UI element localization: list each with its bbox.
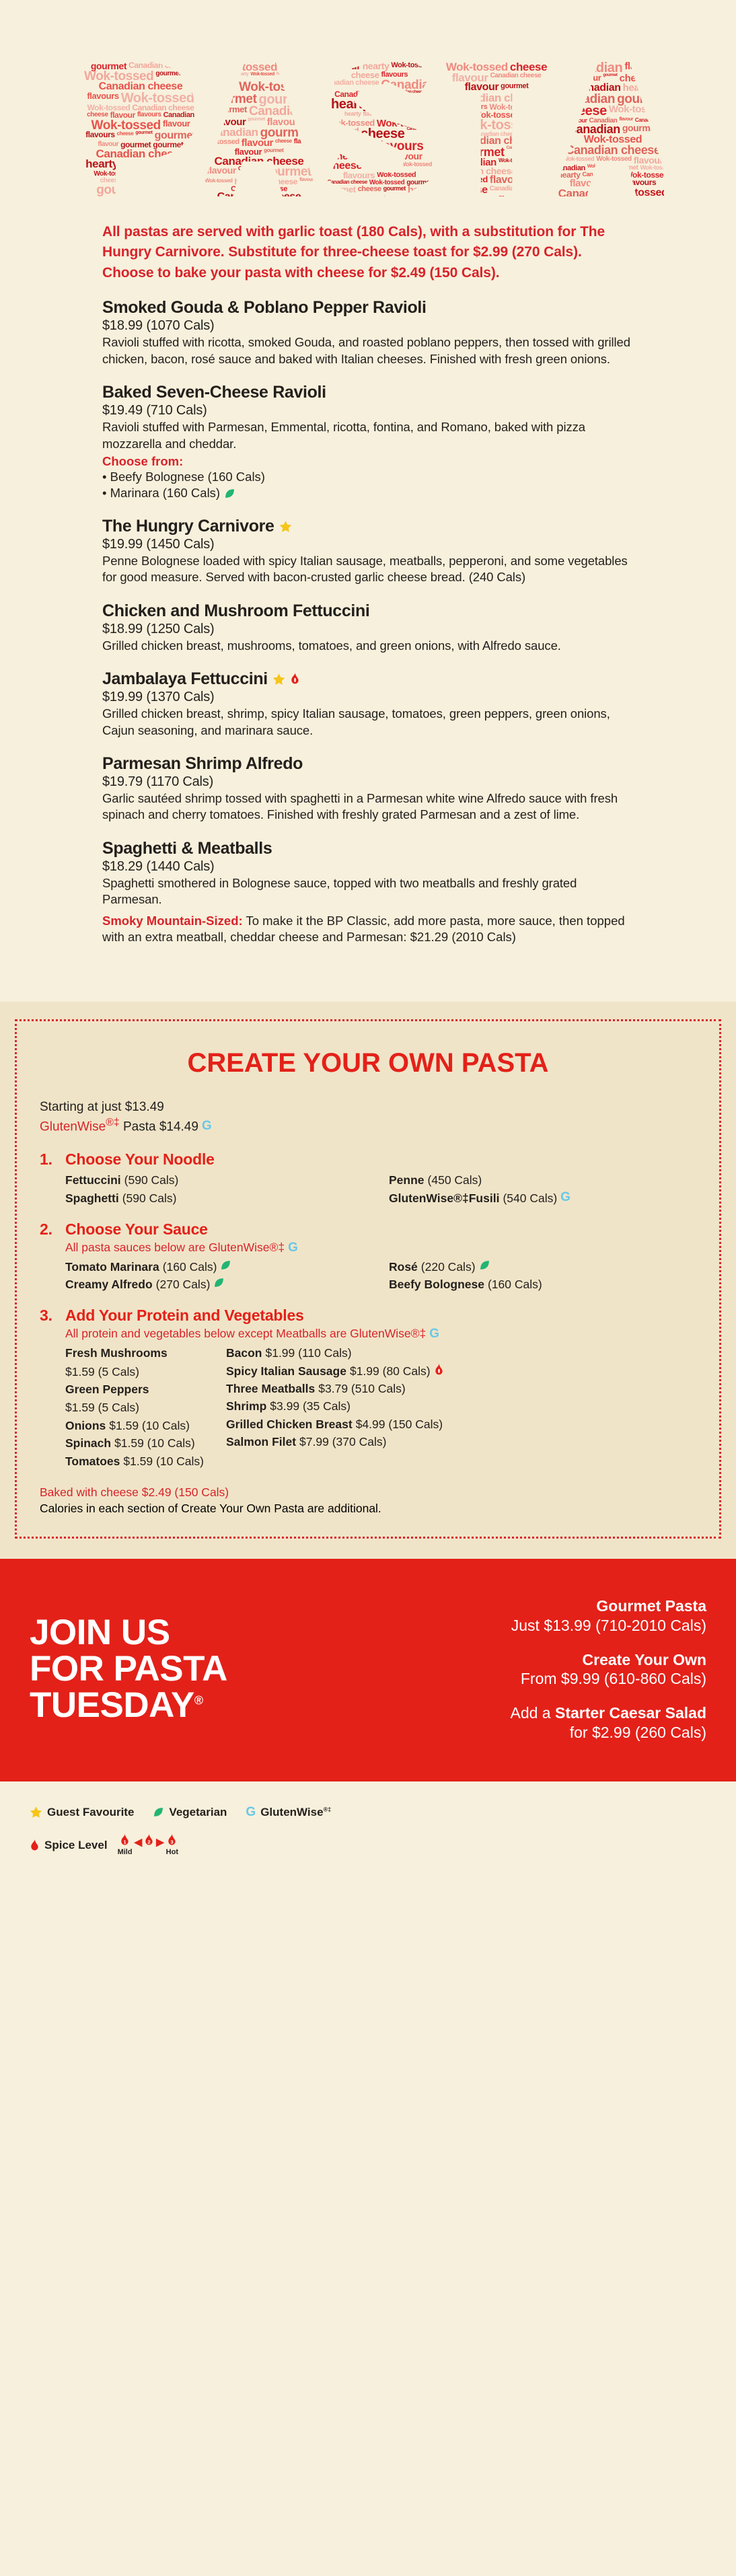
cyo-option-detail: (590 Cals) [122, 1191, 177, 1206]
cyo-option-name: Spaghetti [65, 1191, 119, 1206]
menu-item: Jambalaya Fettuccini$19.99 (1370 Cals)Gr… [102, 669, 634, 739]
cyo-option-detail: $1.99 (80 Cals) [350, 1364, 431, 1378]
menu-item-price: $19.99 (1370 Cals) [102, 690, 634, 705]
cyo-option-detail: $3.79 (510 Cals) [318, 1381, 405, 1396]
menu-item: Smoked Gouda & Poblano Pepper Ravioli$18… [102, 298, 634, 367]
menu-item-name: Chicken and Mushroom Fettuccini [102, 601, 634, 621]
banner-offer: Add a Starter Caesar Saladfor $2.99 (260… [510, 1703, 706, 1742]
menu-item-description: Grilled chicken breast, shrimp, spicy It… [102, 706, 634, 739]
cyo-option-detail: (220 Cals) [421, 1259, 476, 1274]
cyo-option-grid: Fresh Mushrooms$1.59 (5 Cals)Green Peppe… [65, 1346, 696, 1471]
vegetarian-leaf-icon [479, 1259, 490, 1271]
menu-item: Chicken and Mushroom Fettuccini$18.99 (1… [102, 601, 634, 654]
menu-item-description: Ravioli stuffed with ricotta, smoked Gou… [102, 334, 634, 367]
menu-item-name: Spaghetti & Meatballs [102, 839, 634, 858]
cyo-step-number: 3. [40, 1307, 56, 1325]
cyo-step-title: Choose Your Sauce [65, 1220, 208, 1239]
banner-offer-title: Gourmet Pasta [510, 1596, 706, 1616]
vegetarian-leaf-icon [213, 1277, 225, 1288]
wordcloud-letter: gourmetCanadian cheeseWok-tossedgourmetc… [84, 62, 197, 196]
glutenwise-icon: G [429, 1327, 439, 1340]
vegetarian-leaf-icon [153, 1806, 164, 1818]
wordcloud-letter: CanadianflavoursflavourgourmetcheeseCana… [554, 62, 664, 196]
cyo-option-detail: (160 Cals) [163, 1259, 217, 1274]
cyo-step-header: 1.Choose Your Noodle [40, 1150, 696, 1169]
legend-spice-level: Spice Level 1Mild◀2▶3Hot [30, 1834, 178, 1857]
svg-text:2: 2 [147, 1839, 151, 1845]
cyo-option-detail: $1.59 (10 Cals) [123, 1454, 204, 1469]
cyo-option[interactable]: Penne(450 Cals) [389, 1173, 696, 1187]
smoky-mountain-label: Smoky Mountain-Sized: [102, 914, 243, 928]
svg-text:3: 3 [171, 1839, 174, 1845]
menu-item-name: Jambalaya Fettuccini [102, 669, 634, 689]
cyo-option[interactable]: Creamy Alfredo(270 Cals) [65, 1277, 373, 1292]
menu-item-price: $19.79 (1170 Cals) [102, 774, 634, 790]
glutenwise-pasta-price: GlutenWise®‡ Pasta $14.49 G [40, 1115, 696, 1136]
cyo-option-detail: $3.99 (35 Cals) [270, 1399, 351, 1413]
vegetarian-leaf-icon [220, 1259, 231, 1271]
cyo-option-name: Penne [389, 1173, 425, 1187]
pasta-wordcloud-title: gourmetCanadian cheeseWok-tossedgourmetc… [72, 62, 664, 196]
banner-offer: Create Your OwnFrom $9.99 (610-860 Cals) [510, 1650, 706, 1689]
banner-headline: JOIN US FOR PASTA TUESDAY® [30, 1615, 227, 1724]
legend-glutenwise-label: GlutenWise [260, 1806, 323, 1818]
menu-item: Spaghetti & Meatballs$18.29 (1440 Cals)S… [102, 839, 634, 946]
legend-guest-favourite: Guest Favourite [30, 1806, 134, 1819]
guest-favourite-star-icon [279, 520, 292, 533]
menu-item-price: $18.99 (1250 Cals) [102, 622, 634, 637]
menu-item: Parmesan Shrimp Alfredo$19.79 (1170 Cals… [102, 754, 634, 823]
glutenwise-icon: G [288, 1241, 298, 1254]
cyo-option-detail: (540 Cals) [503, 1191, 557, 1206]
menu-item-name: The Hungry Carnivore [102, 517, 634, 536]
cyo-step-title: Add Your Protein and Vegetables [65, 1307, 304, 1325]
guest-favourite-star-icon [30, 1806, 42, 1818]
glutenwise-pasta-price-value: Pasta $14.49 [120, 1119, 198, 1134]
cyo-option-detail: $4.99 (150 Cals) [356, 1417, 443, 1432]
cyo-option-name: Spinach [65, 1436, 111, 1450]
cyo-option[interactable]: Bacon$1.99 (110 Cals) [226, 1346, 696, 1360]
calories-additional-note: Calories in each section of Create Your … [40, 1501, 696, 1517]
cyo-option[interactable]: Onions$1.59 (10 Cals) [65, 1418, 210, 1433]
cyo-option-name: Green Peppers [65, 1382, 149, 1397]
cyo-option-name: GlutenWise®‡Fusili [389, 1191, 499, 1206]
menu-item-price: $18.29 (1440 Cals) [102, 859, 634, 875]
cyo-option[interactable]: Tomato Marinara(160 Cals) [65, 1259, 373, 1274]
legend-row-symbols: Guest Favourite Vegetarian G GlutenWise®… [30, 1806, 706, 1819]
banner-headline-line3: TUESDAY® [30, 1687, 227, 1724]
cyo-option[interactable]: Green Peppers$1.59 (5 Cals) [65, 1382, 210, 1415]
spice-scale-arrow-icon: ▶ [155, 1836, 165, 1857]
legend-spice-level-label: Spice Level [44, 1839, 108, 1852]
cyo-option-name: Creamy Alfredo [65, 1277, 153, 1292]
cyo-step-number: 1. [40, 1150, 56, 1169]
choose-from-label: Choose from: [102, 454, 634, 469]
starting-at-text: Starting at just $13.49 [40, 1099, 696, 1116]
cyo-option-name: Bacon [226, 1346, 262, 1360]
cyo-option[interactable]: Fettuccini(590 Cals) [65, 1173, 373, 1187]
cyo-option-detail: (590 Cals) [124, 1173, 179, 1187]
banner-offer-subtitle: Just $13.99 (710-2010 Cals) [510, 1616, 706, 1635]
cyo-option[interactable]: Grilled Chicken Breast$4.99 (150 Cals) [226, 1417, 696, 1432]
menu-item: Baked Seven-Cheese Ravioli$19.49 (710 Ca… [102, 383, 634, 501]
cyo-option[interactable]: Spaghetti(590 Cals) [65, 1191, 373, 1206]
cyo-option[interactable]: Beefy Bolognese(160 Cals) [389, 1277, 696, 1292]
choose-option: • Beefy Bolognese (160 Cals) [102, 469, 634, 485]
menu-item-name: Parmesan Shrimp Alfredo [102, 754, 634, 774]
wordcloud-letter: flavourheartyWok-tossedcheeseflavoursCan… [322, 62, 437, 196]
cyo-option[interactable]: GlutenWise®‡Fusili(540 Cals)G [389, 1191, 696, 1206]
menu-item-name-text: Chicken and Mushroom Fettuccini [102, 601, 370, 621]
svg-text:1: 1 [123, 1839, 126, 1845]
spice-flame-icon: 2 [144, 1834, 154, 1847]
cyo-step-note-text: All protein and vegetables below except … [65, 1326, 426, 1341]
hero-header: gourmetCanadian cheeseWok-tossedgourmetc… [0, 0, 736, 222]
cyo-option-detail: $1.59 (10 Cals) [114, 1436, 195, 1450]
cyo-option-detail: (160 Cals) [488, 1277, 542, 1292]
menu-item-price: $18.99 (1070 Cals) [102, 318, 634, 334]
spice-flame-icon [30, 1839, 40, 1852]
cyo-step-header: 3.Add Your Protein and Vegetables [40, 1307, 696, 1325]
cyo-option-detail: (270 Cals) [156, 1277, 211, 1292]
spice-level-caption: Mild [118, 1848, 133, 1857]
banner-offer-line1: Add a Starter Caesar Salad [510, 1703, 706, 1723]
banner-offer-subtitle: From $9.99 (610-860 Cals) [510, 1669, 706, 1689]
cyo-option-name: Three Meatballs [226, 1381, 315, 1396]
menu-item-description: Spaghetti smothered in Bolognese sauce, … [102, 875, 634, 908]
vegetarian-leaf-icon [224, 488, 235, 499]
menu-item-name-text: Smoked Gouda & Poblano Pepper Ravioli [102, 298, 427, 318]
create-your-own-footnotes: Baked with cheese $2.49 (150 Cals) Calor… [40, 1485, 696, 1516]
cyo-step-number: 2. [40, 1220, 56, 1239]
glutenwise-icon: G [202, 1119, 212, 1132]
cyo-option-name: Spicy Italian Sausage [226, 1364, 346, 1378]
spice-flame-icon [290, 673, 300, 686]
legend-footer: Guest Favourite Vegetarian G GlutenWise®… [0, 1781, 736, 1892]
banner-offer-bold: Starter Caesar Salad [555, 1704, 706, 1722]
menu-item-description: Penne Bolognese loaded with spicy Italia… [102, 553, 634, 586]
cyo-option[interactable]: Salmon Filet$7.99 (370 Cals) [226, 1434, 696, 1449]
menu-item-name: Baked Seven-Cheese Ravioli [102, 383, 634, 402]
choose-option-label: • Marinara (160 Cals) [102, 485, 220, 501]
cyo-option-grid: Tomato Marinara(160 Cals)Rosé(220 Cals)C… [65, 1259, 696, 1292]
cyo-option[interactable]: Tomatoes$1.59 (10 Cals) [65, 1454, 210, 1469]
banner-offer: Gourmet PastaJust $13.99 (710-2010 Cals) [510, 1596, 706, 1635]
cyo-option-column-right: Bacon$1.99 (110 Cals)Spicy Italian Sausa… [226, 1346, 696, 1471]
menu-item-price: $19.99 (1450 Cals) [102, 537, 634, 552]
menu-item-description: Grilled chicken breast, mushrooms, tomat… [102, 638, 634, 654]
menu-item-price: $19.49 (710 Cals) [102, 403, 634, 418]
spice-flame-icon: 3 [167, 1834, 177, 1847]
menu-item-name-text: Parmesan Shrimp Alfredo [102, 754, 303, 774]
menu-item-name-text: The Hungry Carnivore [102, 517, 274, 536]
choose-option: • Marinara (160 Cals) [102, 485, 634, 501]
banner-registered-mark: ® [194, 1694, 203, 1707]
cyo-option[interactable]: Shrimp$3.99 (35 Cals) [226, 1399, 696, 1413]
spice-level-step: 1Mild [118, 1834, 133, 1857]
legend-glutenwise: G GlutenWise®‡ [246, 1806, 331, 1819]
legend-glutenwise-sup: ®‡ [324, 1806, 332, 1812]
cyo-step-note: All pasta sauces below are GlutenWise®‡G [65, 1240, 696, 1255]
menu-item-description: Ravioli stuffed with Parmesan, Emmental,… [102, 419, 634, 452]
cyo-option-name: Grilled Chicken Breast [226, 1417, 353, 1432]
smoky-mountain-note: Smoky Mountain-Sized: To make it the BP … [102, 913, 634, 946]
guest-favourite-star-icon [272, 673, 285, 686]
cyo-option-detail: $1.99 (110 Cals) [265, 1346, 351, 1360]
intro-text: All pastas are served with garlic toast … [102, 222, 634, 298]
cyo-step-note: All protein and vegetables below except … [65, 1326, 696, 1341]
spice-level-scale: 1Mild◀2▶3Hot [118, 1834, 178, 1857]
menu-item: The Hungry Carnivore$19.99 (1450 Cals)Pe… [102, 517, 634, 586]
glutenwise-sup: ®‡ [106, 1117, 119, 1128]
cyo-step-header: 2.Choose Your Sauce [40, 1220, 696, 1239]
cyo-option-name: Fettuccini [65, 1173, 121, 1187]
cyo-step-title: Choose Your Noodle [65, 1150, 215, 1169]
banner-offer-prefix: Add a [510, 1704, 555, 1722]
cyo-option-name: Rosé [389, 1259, 418, 1274]
legend-vegetarian: Vegetarian [153, 1806, 227, 1819]
banner-offer-line2: for $2.99 (260 Cals) [510, 1723, 706, 1742]
banner-offers: Gourmet PastaJust $13.99 (710-2010 Cals)… [510, 1596, 706, 1742]
cyo-option-detail: $1.59 (5 Cals) [65, 1364, 139, 1379]
spice-flame-icon: 1 [120, 1834, 130, 1847]
pasta-tuesday-banner: JOIN US FOR PASTA TUESDAY® Gourmet Pasta… [0, 1559, 736, 1781]
spice-level-step: 3Hot [166, 1834, 178, 1857]
menu-item-name-text: Spaghetti & Meatballs [102, 839, 272, 858]
cyo-option[interactable]: Spinach$1.59 (10 Cals) [65, 1436, 210, 1450]
cyo-option-detail: $1.59 (5 Cals) [65, 1400, 139, 1415]
spice-flame-icon [434, 1364, 444, 1376]
wordcloud-letter: Wok-tossedcheesecheeseheartyWok-tossedhe… [200, 62, 318, 196]
choose-option-label: • Beefy Bolognese (160 Cals) [102, 469, 265, 485]
create-your-own-title: CREATE YOUR OWN PASTA [40, 1048, 696, 1078]
spice-level-step: 2 [144, 1834, 154, 1857]
glutenwise-label: GlutenWise [40, 1119, 106, 1134]
cyo-option-name: Beefy Bolognese [389, 1277, 484, 1292]
cyo-option[interactable]: Spicy Italian Sausage$1.99 (80 Cals) [226, 1364, 696, 1378]
cyo-option-name: Onions [65, 1418, 106, 1433]
cyo-option-grid: Fettuccini(590 Cals)Penne(450 Cals)Spagh… [65, 1173, 696, 1206]
cyo-step-note-text: All pasta sauces below are GlutenWise®‡ [65, 1240, 285, 1255]
create-your-own-pricing: Starting at just $13.49 GlutenWise®‡ Pas… [40, 1099, 696, 1136]
create-your-own-section: CREATE YOUR OWN PASTA Starting at just $… [0, 1002, 736, 1559]
spice-level-caption: Hot [166, 1848, 178, 1857]
legend-guest-favourite-label: Guest Favourite [47, 1806, 134, 1819]
cyo-option-name: Shrimp [226, 1399, 266, 1413]
cyo-option-column-left: Fresh Mushrooms$1.59 (5 Cals)Green Peppe… [65, 1346, 210, 1471]
spice-scale-arrow-icon: ◀ [134, 1836, 143, 1857]
menu-items-list: Smoked Gouda & Poblano Pepper Ravioli$18… [102, 298, 634, 1001]
banner-offer-title: Create Your Own [510, 1650, 706, 1670]
cyo-option-name: Tomato Marinara [65, 1259, 159, 1274]
cyo-option-name: Tomatoes [65, 1454, 120, 1469]
cyo-option[interactable]: Rosé(220 Cals) [389, 1259, 696, 1274]
cyo-option-detail: $7.99 (370 Cals) [299, 1434, 386, 1449]
wordcloud-letter: Wok-tossedcheeseflavourCanadian cheesefl… [441, 62, 552, 196]
cyo-option[interactable]: Fresh Mushrooms$1.59 (5 Cals) [65, 1346, 210, 1379]
glutenwise-icon: G [560, 1191, 571, 1204]
banner-headline-line2: FOR PASTA [30, 1651, 227, 1687]
legend-row-spice: Spice Level 1Mild◀2▶3Hot [30, 1834, 706, 1857]
menu-item-description: Garlic sautéed shrimp tossed with spaghe… [102, 790, 634, 823]
menu-item-name-text: Baked Seven-Cheese Ravioli [102, 383, 326, 402]
cyo-option[interactable]: Three Meatballs$3.79 (510 Cals) [226, 1381, 696, 1396]
menu-item-name: Smoked Gouda & Poblano Pepper Ravioli [102, 298, 634, 318]
cyo-option-detail: $1.59 (10 Cals) [109, 1418, 190, 1433]
baked-with-cheese-note: Baked with cheese $2.49 (150 Cals) [40, 1485, 696, 1501]
glutenwise-icon: G [246, 1806, 256, 1818]
banner-headline-line1: JOIN US [30, 1615, 227, 1651]
cyo-option-name: Fresh Mushrooms [65, 1346, 168, 1360]
cyo-option-detail: (450 Cals) [428, 1173, 482, 1187]
cyo-option-name: Salmon Filet [226, 1434, 296, 1449]
menu-item-name-text: Jambalaya Fettuccini [102, 669, 268, 689]
legend-vegetarian-label: Vegetarian [169, 1806, 227, 1819]
